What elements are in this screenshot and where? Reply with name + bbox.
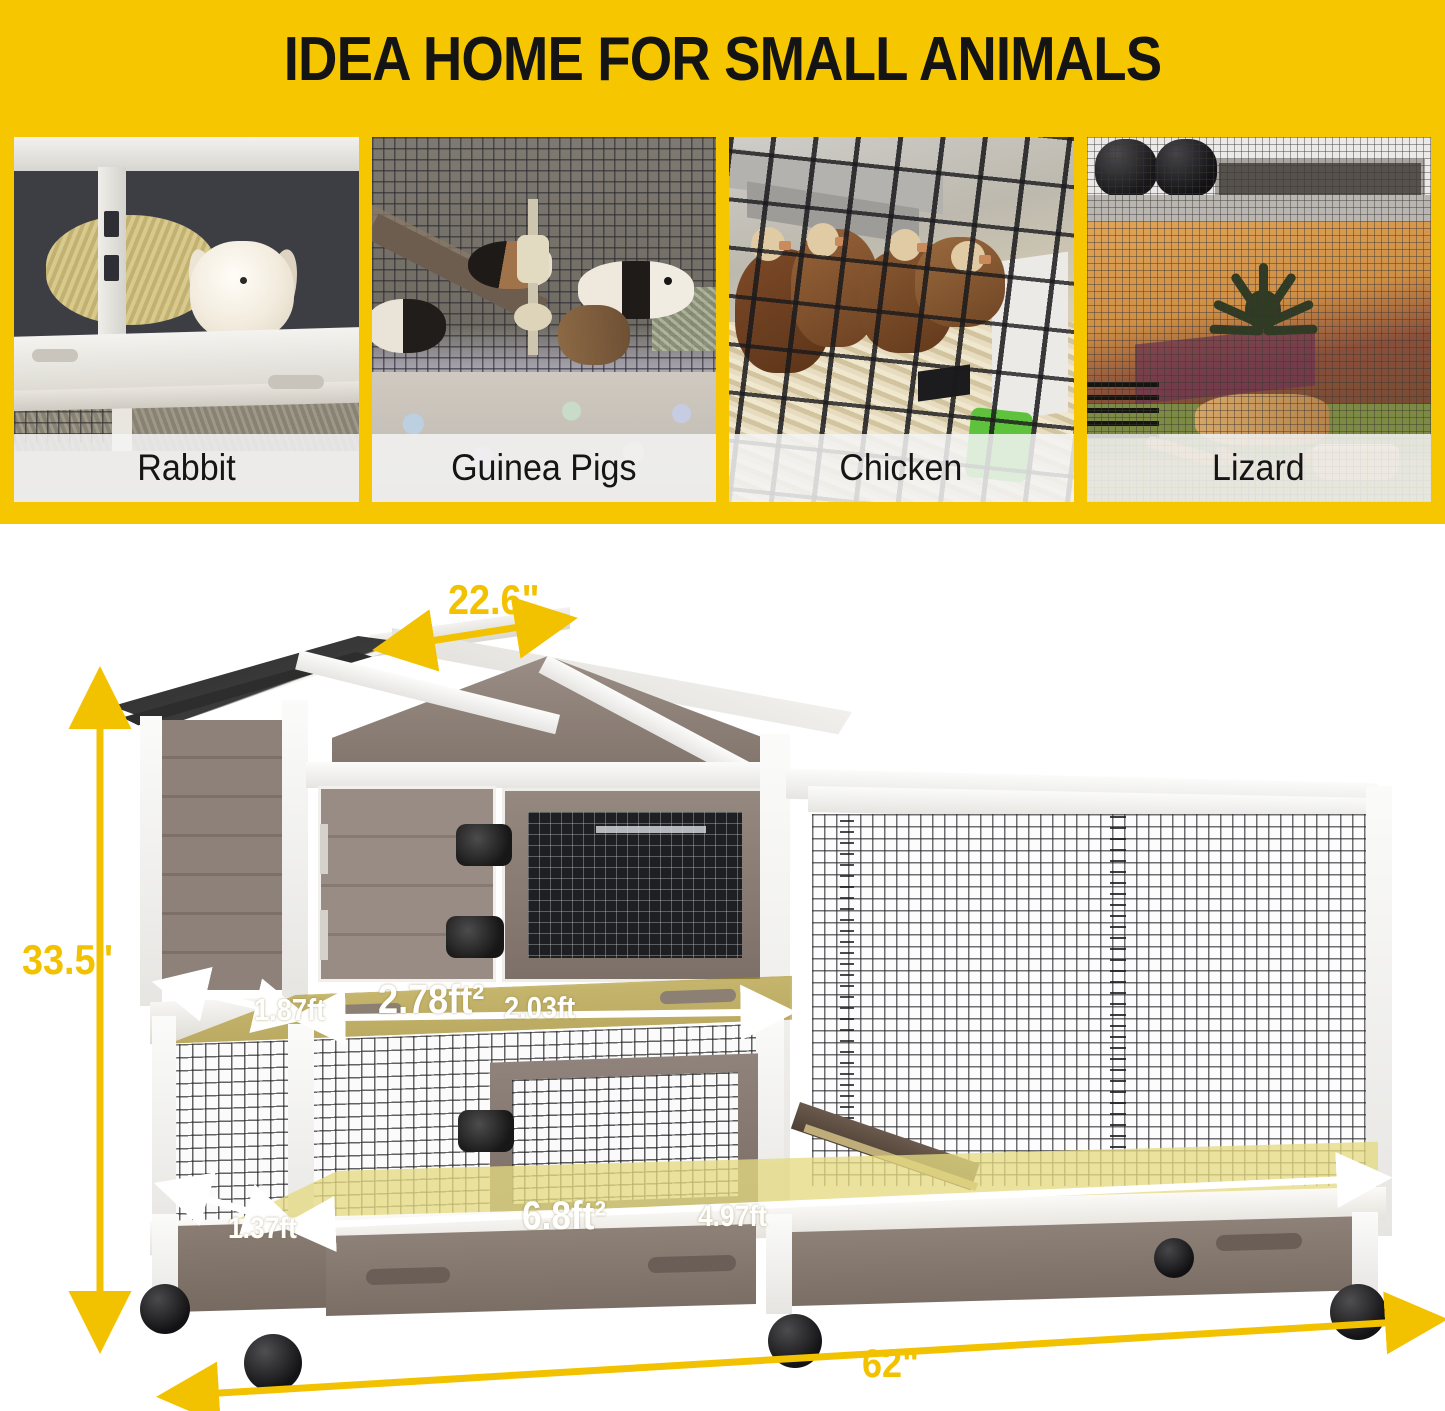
leg-mid <box>766 1214 792 1314</box>
run-mesh-left-corner <box>840 820 854 1150</box>
rabbit-body <box>190 241 294 341</box>
guinea-pig-3 <box>558 305 630 365</box>
guinea-pig-eye <box>664 277 672 285</box>
door-latch-lower-icon <box>446 916 504 958</box>
dimension-label-lower-depth: 1.37ft <box>228 1212 297 1246</box>
lower-post-left <box>152 1016 176 1244</box>
guinea-pig-4 <box>372 299 446 353</box>
lower-door-latch-icon <box>458 1110 514 1152</box>
door-hinge-upper <box>320 824 328 874</box>
pull-out-tray-right <box>790 1216 1372 1306</box>
photo-card-guinea-pigs: Guinea Pigs <box>372 137 717 502</box>
upper-mesh-window <box>528 812 742 958</box>
infographic-root: IDEA HOME FOR SMALL ANIMALS <box>0 0 1445 1411</box>
caster-wheel-back-left <box>140 1284 190 1334</box>
window-glare <box>596 826 706 833</box>
photo-card-lizard: Lizard <box>1087 137 1432 502</box>
tray-handle-icon <box>32 349 78 362</box>
tray-handle-mid-icon <box>648 1255 736 1273</box>
door-latch-upper-icon <box>456 824 512 866</box>
dimension-label-lower-area: 6.8ft² <box>522 1194 606 1239</box>
dimension-label-upper-depth: 1.87ft <box>254 992 325 1028</box>
animal-photo-strip: Rabbit Guinea Pigs <box>14 137 1431 502</box>
front-header-rail <box>306 762 766 788</box>
photo-label-lizard: Lizard <box>1212 447 1305 489</box>
caster-wheel-front-left <box>244 1334 302 1392</box>
corner-post-mid <box>282 700 308 1000</box>
rabbit-eye <box>240 277 247 284</box>
dimension-label-upper-width: 2.03ft <box>504 990 575 1026</box>
run-mesh-panel <box>812 814 1372 1186</box>
banner: IDEA HOME FOR SMALL ANIMALS <box>0 0 1445 524</box>
dimension-label-lower-width: 4.97ft <box>698 1200 767 1234</box>
tray-handle-icon <box>268 375 324 389</box>
upper-tray-handle-icon-2 <box>660 989 736 1005</box>
caster-wheel-right <box>1330 1284 1386 1340</box>
photo-label-chicken: Chicken <box>840 447 963 489</box>
photo-label-bar-guinea-pigs: Guinea Pigs <box>372 434 717 502</box>
photo-card-chicken: Chicken <box>729 137 1074 502</box>
hanging-toy-block <box>517 235 549 283</box>
photo-label-guinea-pigs: Guinea Pigs <box>451 447 636 489</box>
hutch-top-rail <box>14 137 359 171</box>
photo-label-bar-lizard: Lizard <box>1087 434 1432 502</box>
door-hinge-lower <box>320 910 328 960</box>
page-title: IDEA HOME FOR SMALL ANIMALS <box>87 24 1359 95</box>
caster-wheel-mid-back <box>1154 1238 1194 1278</box>
photo-label-bar-chicken: Chicken <box>729 434 1074 502</box>
side-wall-panel <box>152 720 288 990</box>
photo-card-rabbit: Rabbit <box>14 137 359 502</box>
dimension-label-upper-area: 2.78ft² <box>378 976 484 1023</box>
dimension-label-width-bottom: 62" <box>862 1342 919 1387</box>
hutch-clip-icon <box>104 255 119 281</box>
hanging-toy-ball <box>514 303 552 331</box>
tray-handle-right-icon <box>1216 1233 1302 1251</box>
product-dimension-diagram: 22.6" 33.5" 62" 1.87ft 2.78ft² 2.03ft 1.… <box>0 524 1445 1411</box>
tray-handle-left-icon <box>366 1267 450 1285</box>
dimension-label-height-left: 33.5" <box>22 936 114 984</box>
corner-post-left <box>140 716 162 1006</box>
hutch-clip-icon <box>104 211 119 237</box>
photo-label-rabbit: Rabbit <box>137 447 235 489</box>
dimension-label-depth-top: 22.6" <box>448 576 540 624</box>
run-mesh-back-corner <box>1110 816 1126 1154</box>
caster-wheel-mid <box>768 1314 822 1368</box>
photo-label-bar-rabbit: Rabbit <box>14 434 359 502</box>
